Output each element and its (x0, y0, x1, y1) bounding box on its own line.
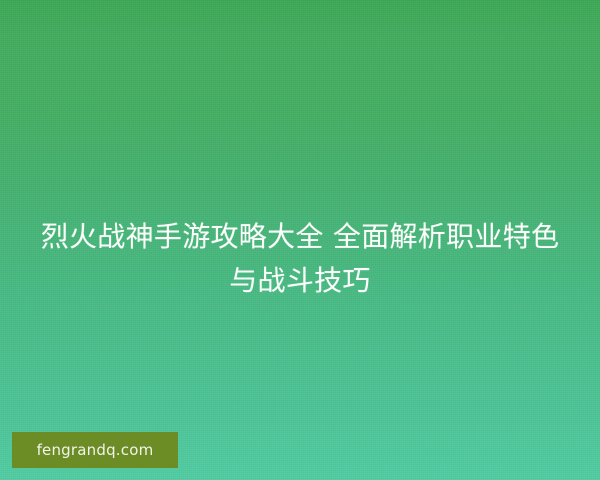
cover-title: 烈火战神手游攻略大全 全面解析职业特色与战斗技巧 (0, 215, 600, 303)
watermark-site-label: fengrandq.com (37, 443, 154, 458)
watermark-badge: fengrandq.com (12, 432, 178, 468)
article-cover-image: 烈火战神手游攻略大全 全面解析职业特色与战斗技巧 fengrandq.com (0, 0, 600, 480)
